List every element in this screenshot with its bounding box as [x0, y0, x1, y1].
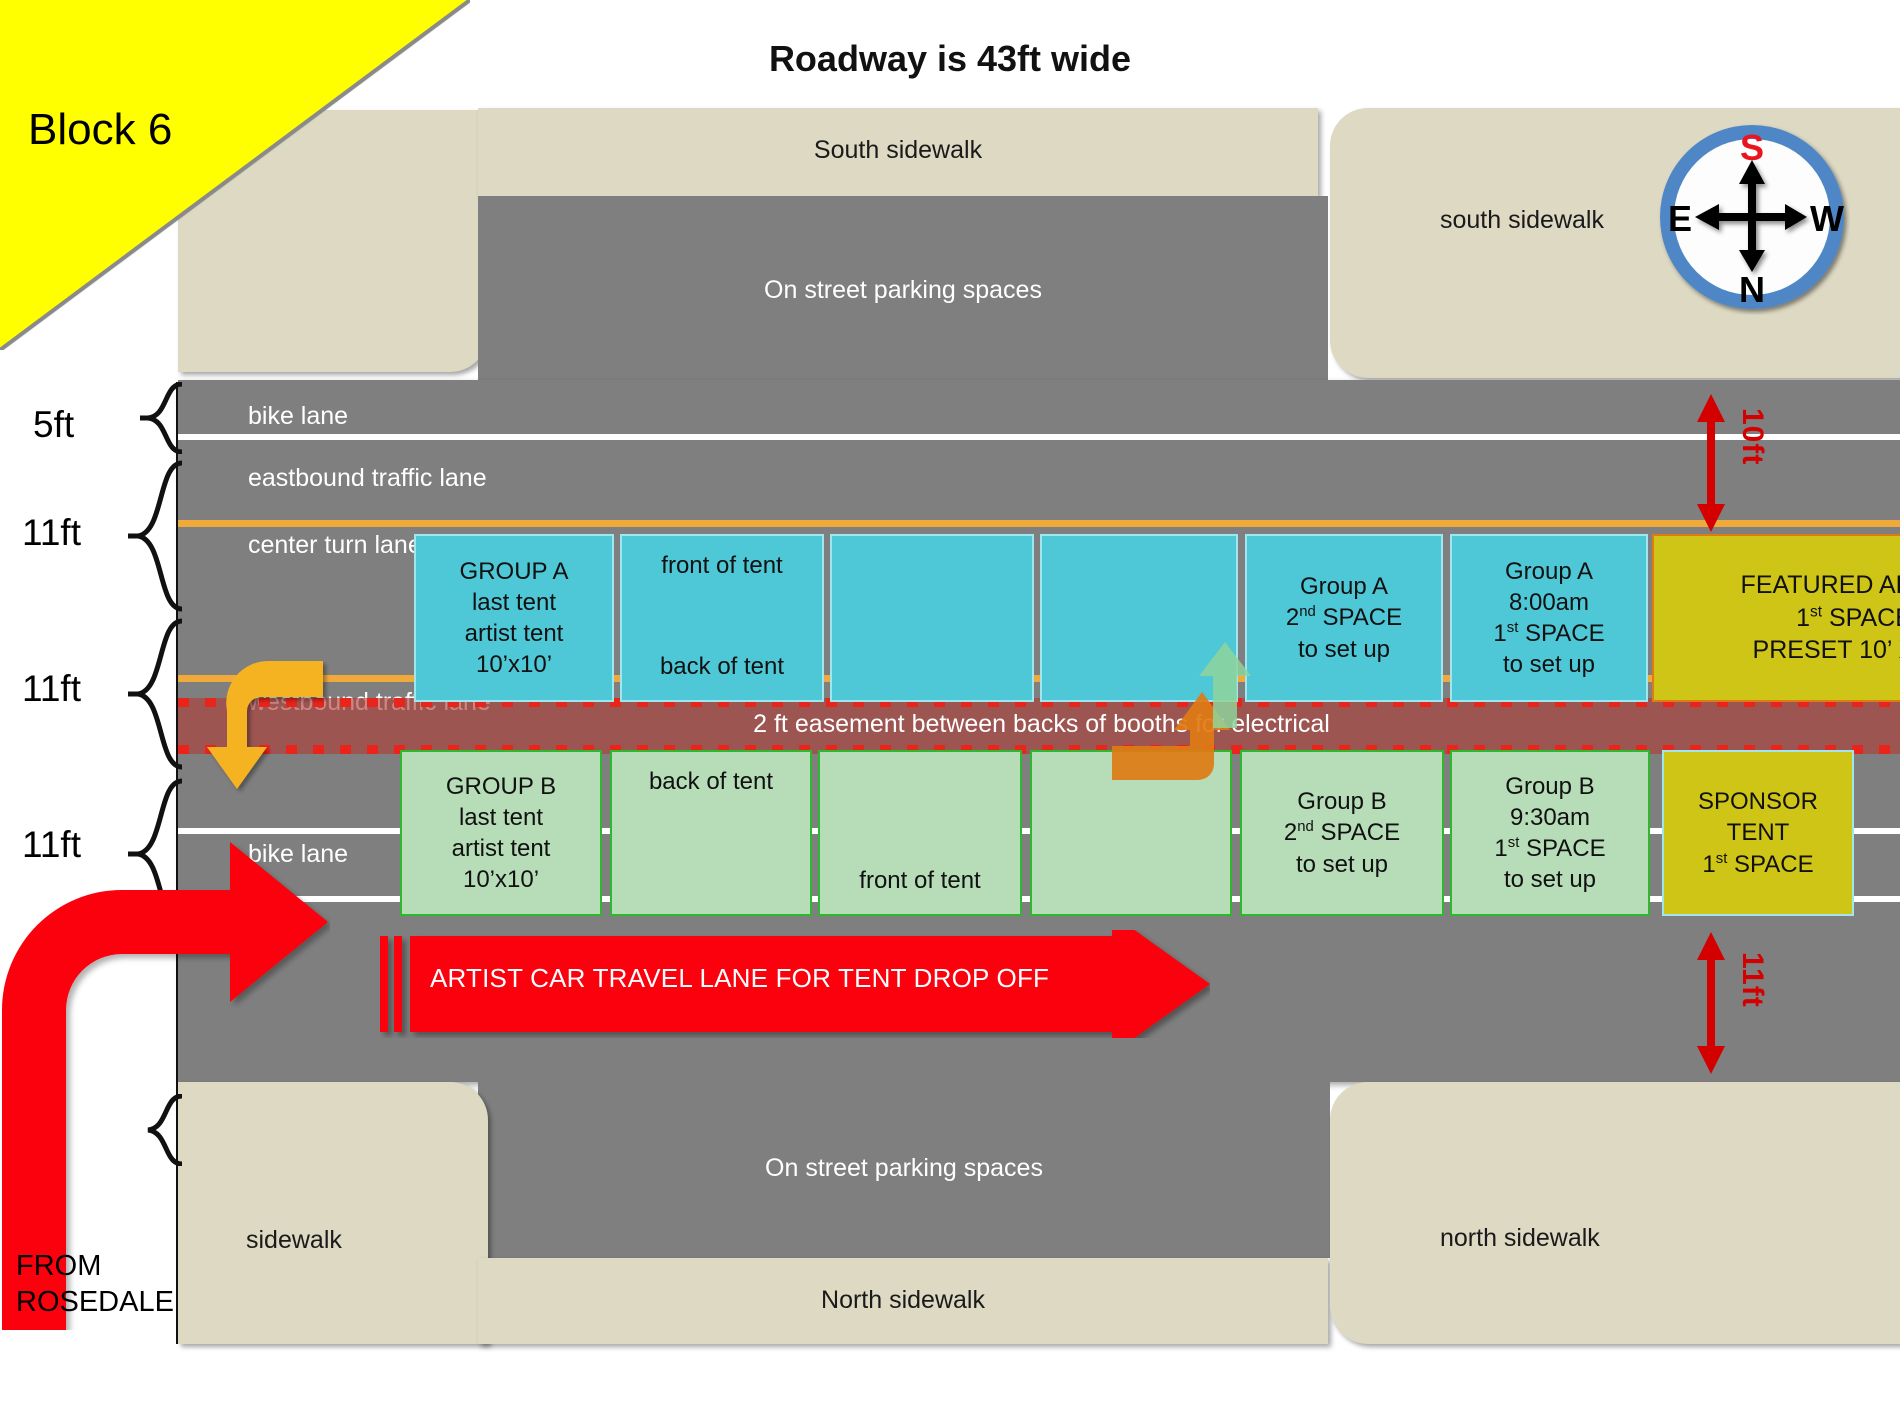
svg-text:E: E — [1668, 198, 1692, 239]
ordinal-suffix: st — [1810, 603, 1822, 620]
tent-line: 2nd SPACE — [1284, 817, 1400, 848]
dimension-label-11ft-eastbound: 11ft — [22, 512, 81, 554]
svg-text:S: S — [1740, 127, 1764, 168]
tent-back-label: back of tent — [612, 766, 810, 797]
easement-label: 2 ft easement between backs of booths fo… — [178, 710, 1900, 739]
dimension-label-10ft: 10ft — [1735, 408, 1769, 465]
from-rosedale-label: FROM ROSEDALE — [16, 1248, 226, 1321]
svg-text:N: N — [1739, 269, 1765, 310]
sidewalk-north-right: north sidewalk — [1330, 1082, 1900, 1344]
tent-line: 1st SPACE — [1702, 849, 1813, 880]
dimension-label-11ft-center: 11ft — [22, 668, 81, 710]
dimension-arrow-11ft — [1694, 928, 1728, 1083]
group-a-tent-blank-1[interactable] — [830, 534, 1034, 702]
group-b-tent-front[interactable]: front of tent — [818, 750, 1022, 916]
block-6-street-layout-diagram: Roadway is 43ft wide South sidewalk sout… — [0, 0, 1900, 1425]
ordinal-suffix: st — [1716, 851, 1728, 867]
green-setup-arrow — [1195, 640, 1255, 730]
tent-back-label: back of tent — [622, 651, 822, 682]
tent-line: artist tent — [452, 833, 551, 864]
tent-line: GROUP A — [460, 556, 569, 587]
ordinal-suffix: nd — [1299, 604, 1316, 620]
dimension-label-11ft-right: 11ft — [1735, 952, 1769, 1008]
lane-label-eastbound: eastbound traffic lane — [248, 464, 487, 493]
block-number-label: Block 6 — [28, 105, 172, 155]
tent-line: 1st SPACE — [1493, 618, 1604, 649]
dimension-arrow-10ft — [1694, 390, 1728, 541]
group-b-last-tent[interactable]: GROUP B last tent artist tent 10’x10’ — [400, 750, 602, 916]
group-b-first-space[interactable]: Group B 9:30am 1st SPACE to set up — [1450, 750, 1650, 916]
sponsor-tent[interactable]: SPONSOR TENT 1st SPACE — [1662, 750, 1854, 916]
group-b-second-space[interactable]: Group B 2nd SPACE to set up — [1240, 750, 1444, 916]
group-a-last-tent[interactable]: GROUP A last tent artist tent 10’x10’ — [414, 534, 614, 702]
tent-line: Group B — [1297, 786, 1386, 817]
on-street-parking-top: On street parking spaces — [478, 196, 1328, 380]
tent-line: last tent — [459, 802, 543, 833]
tent-line: 2nd SPACE — [1286, 602, 1402, 633]
lane-label-bike-lane-south: bike lane — [248, 402, 348, 431]
tent-line: 10’x10’ — [476, 649, 552, 680]
parking-top-label: On street parking spaces — [478, 276, 1328, 305]
compass-rose: S N E W — [1655, 120, 1850, 315]
tent-line: to set up — [1296, 849, 1388, 880]
tent-line: to set up — [1503, 649, 1595, 680]
tent-line: to set up — [1298, 634, 1390, 665]
sidewalk-north-strip: North sidewalk — [478, 1258, 1328, 1344]
lane-divider-1 — [178, 434, 1900, 440]
tent-line: 1st SPACE — [1494, 833, 1605, 864]
lane-label-center-turn: center turn lane — [248, 531, 422, 560]
tent-line: 8:00am — [1509, 587, 1589, 618]
brace-11ft-eastbound — [128, 460, 186, 612]
tent-line: last tent — [472, 587, 556, 618]
tent-line: to set up — [1504, 864, 1596, 895]
tent-front-label: front of tent — [820, 865, 1020, 896]
north-sidewalk-right-label: north sidewalk — [1440, 1224, 1600, 1253]
tent-line: 9:30am — [1510, 802, 1590, 833]
block-banner: Block 6 — [0, 0, 470, 350]
tent-line: 1st SPACE — [1796, 602, 1900, 635]
tent-line: TENT — [1727, 817, 1790, 848]
parking-bottom-label: On street parking spaces — [478, 1154, 1330, 1183]
brace-5ft — [140, 382, 185, 454]
group-b-tent-back[interactable]: back of tent — [610, 750, 812, 916]
tent-line: artist tent — [465, 618, 564, 649]
tent-line: 10’x10’ — [463, 864, 539, 895]
tent-line: Group B — [1505, 771, 1594, 802]
svg-text:W: W — [1810, 198, 1844, 239]
ordinal-suffix: st — [1507, 620, 1519, 636]
south-sidewalk-right-label: south sidewalk — [1440, 206, 1604, 235]
orange-left-turn-arrow — [205, 655, 335, 795]
sidewalk-south-strip: South sidewalk — [478, 108, 1318, 196]
group-a-first-space[interactable]: Group A 8:00am 1st SPACE to set up — [1450, 534, 1648, 702]
easement-band: 2 ft easement between backs of booths fo… — [178, 698, 1900, 754]
dimension-label-5ft: 5ft — [33, 404, 74, 446]
tent-line: GROUP B — [446, 771, 556, 802]
tent-line: Group A — [1505, 556, 1593, 587]
yellow-centerline-top — [178, 520, 1900, 527]
tent-line: FEATURED ARTIST — [1741, 569, 1900, 602]
ordinal-suffix: st — [1508, 835, 1520, 851]
featured-artist-space[interactable]: FEATURED ARTIST 1st SPACE PRESET 10’ X 2… — [1652, 534, 1900, 702]
tent-front-label: front of tent — [622, 550, 822, 581]
tent-line: Group A — [1300, 571, 1388, 602]
group-a-tent-front-back[interactable]: front of tent back of tent — [620, 534, 824, 702]
ordinal-suffix: nd — [1297, 819, 1314, 835]
north-sidewalk-label: North sidewalk — [478, 1286, 1328, 1315]
artist-car-travel-lane-label: ARTIST CAR TRAVEL LANE FOR TENT DROP OFF — [430, 963, 1049, 994]
group-a-second-space[interactable]: Group A 2nd SPACE to set up — [1245, 534, 1443, 702]
tent-line: SPONSOR — [1698, 786, 1818, 817]
brace-11ft-center — [128, 618, 186, 770]
south-sidewalk-label: South sidewalk — [478, 136, 1318, 165]
on-street-parking-bottom: On street parking spaces — [478, 1082, 1330, 1258]
tent-line: PRESET 10’ X 20’ — [1753, 634, 1900, 667]
